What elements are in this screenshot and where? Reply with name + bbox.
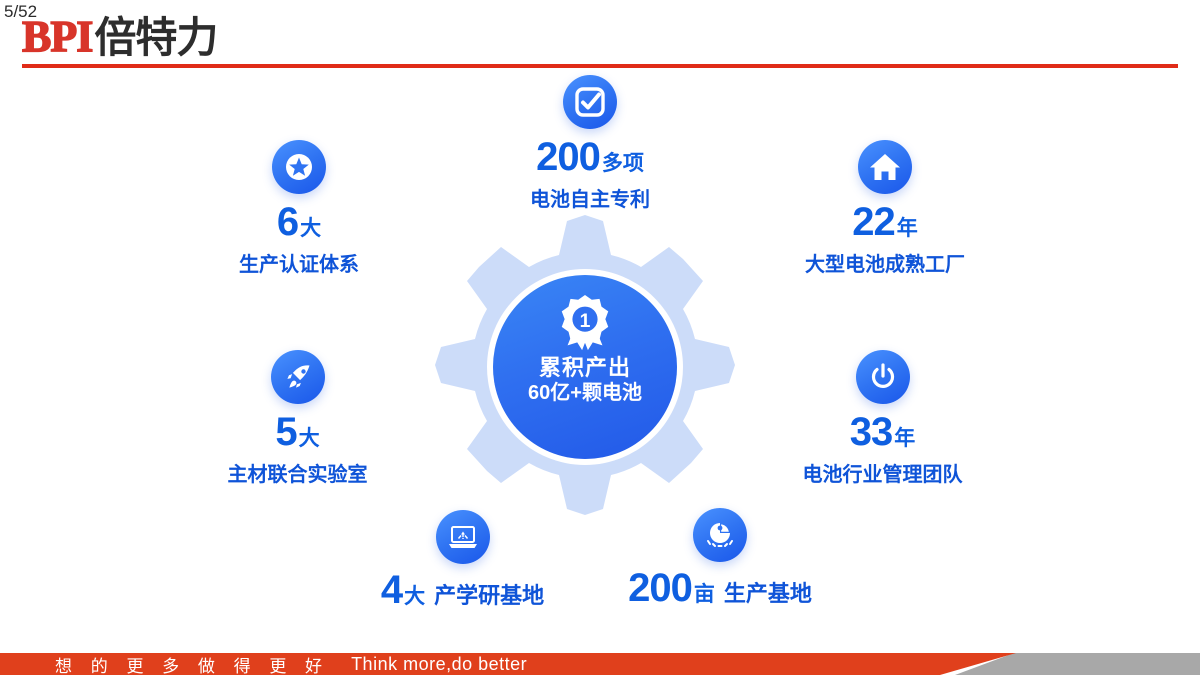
footer-text-row: 想 的 更 多 做 得 更 好 Think more,do better: [0, 653, 1200, 675]
central-gear-graphic: 1 累积产出 60亿+颗电池: [435, 215, 735, 515]
logo-chinese-text: 倍特力: [94, 17, 217, 59]
stat-caption: 大型电池成熟工厂: [790, 248, 980, 277]
medal-ribbon-icon: 1: [554, 293, 616, 355]
stat-caption: 产学研基地: [434, 585, 544, 607]
stat-unit: 大: [299, 427, 320, 450]
stat-number: 4: [381, 570, 402, 610]
star-circle-icon: [282, 150, 316, 184]
stat-number-line: 6大: [204, 202, 394, 242]
stat-number: 22: [852, 200, 895, 244]
star-circle-icon-badge: [272, 140, 326, 194]
stat-item-laboratory: 5大 主材联合实验室: [200, 350, 395, 487]
stat-number-line: 200多项: [455, 137, 725, 177]
footer-slogan-chinese: 想 的 更 多 做 得 更 好: [55, 653, 329, 675]
header-divider-rule: [22, 64, 1178, 68]
stat-number: 200: [628, 568, 692, 608]
stat-item-production-base: 200亩生产基地: [615, 508, 825, 608]
checkbox-check-icon: [574, 86, 606, 118]
slide-canvas: 5/52 BPI 倍特力 1 累积产出 60亿+颗电池: [0, 0, 1200, 675]
power-icon-badge: [856, 350, 910, 404]
rocket-icon: [282, 361, 314, 393]
land-area-pie-icon-badge: [693, 508, 747, 562]
stat-number-line: 22年: [790, 202, 980, 242]
footer-band: 想 的 更 多 做 得 更 好 Think more,do better: [0, 653, 1200, 675]
power-icon: [868, 362, 898, 392]
stat-caption: 电池自主专利: [455, 183, 725, 212]
stat-caption: 生产认证体系: [204, 248, 394, 277]
logo-latin-text: BPI: [22, 15, 92, 59]
checkbox-check-icon-badge: [563, 75, 617, 129]
footer-slogan-english: Think more,do better: [351, 654, 527, 675]
stat-unit: 大: [300, 217, 321, 240]
stat-number-line: 4大产学研基地: [365, 570, 560, 610]
stat-number-line: 33年: [780, 412, 985, 452]
stat-caption: 电池行业管理团队: [780, 458, 985, 487]
stat-item-research-base: 4大产学研基地: [365, 510, 560, 610]
stat-item-patents: 200多项 电池自主专利: [455, 75, 725, 212]
stat-number: 33: [850, 410, 893, 454]
central-stat-circle: 1 累积产出 60亿+颗电池: [493, 275, 677, 459]
brand-logo: BPI 倍特力: [22, 15, 217, 59]
stat-item-factory: 22年 大型电池成熟工厂: [790, 140, 980, 277]
central-label-line2: 60亿+颗电池: [528, 382, 642, 405]
stat-item-certification: 6大 生产认证体系: [204, 140, 394, 277]
stat-unit: 年: [894, 427, 915, 450]
laptop-idea-icon: [447, 523, 479, 551]
home-icon: [869, 152, 901, 182]
land-area-pie-icon: [704, 520, 736, 550]
stat-unit: 多项: [602, 152, 644, 175]
home-icon-badge: [858, 140, 912, 194]
stat-number-line: 5大: [200, 412, 395, 452]
stat-number-line: 200亩生产基地: [615, 568, 825, 608]
stat-number: 5: [275, 410, 296, 454]
stat-unit: 大: [404, 586, 425, 607]
stat-number: 6: [277, 200, 298, 244]
stat-caption: 主材联合实验室: [200, 458, 395, 487]
stat-unit: 年: [897, 217, 918, 240]
svg-text:1: 1: [580, 310, 591, 332]
central-label-line1: 累积产出: [539, 356, 631, 380]
stat-number: 200: [536, 135, 600, 179]
rocket-icon-badge: [271, 350, 325, 404]
laptop-idea-icon-badge: [436, 510, 490, 564]
stat-unit: 亩: [694, 584, 715, 605]
stat-item-management-team: 33年 电池行业管理团队: [780, 350, 985, 487]
stat-caption: 生产基地: [724, 583, 812, 605]
